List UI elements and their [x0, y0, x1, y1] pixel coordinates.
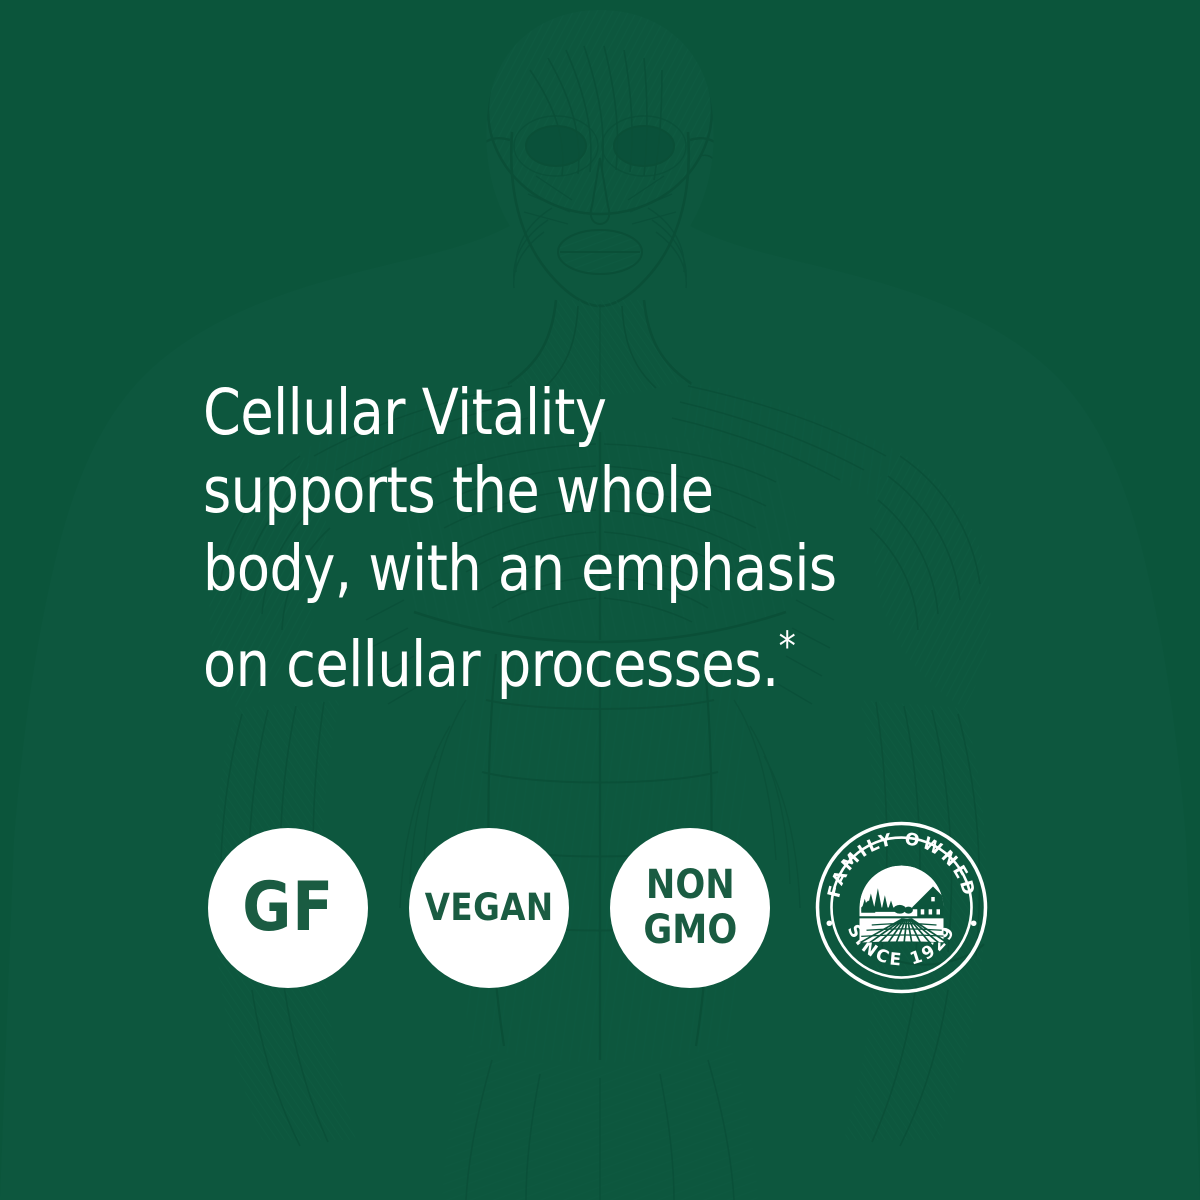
seal-dot-left — [827, 920, 833, 926]
certification-badge-row: GF VEGAN NON GMO — [208, 820, 989, 995]
badge-family-owned-seal[interactable]: FAMILY OWNED SINCE 1929 — [814, 820, 989, 995]
badge-gluten-free[interactable]: GF — [208, 828, 368, 988]
family-owned-seal-graphic: FAMILY OWNED SINCE 1929 — [814, 820, 989, 995]
footnote-asterisk: * — [779, 624, 796, 670]
badge-non-gmo[interactable]: NON GMO — [610, 828, 770, 988]
badge-non-gmo-label: NON GMO — [643, 863, 737, 953]
product-graphic-canvas: Cellular Vitality supports the whole bod… — [0, 0, 1200, 1200]
badge-vegan-label: VEGAN — [425, 889, 554, 926]
badge-vegan[interactable]: VEGAN — [409, 828, 569, 988]
seal-dot-right — [971, 920, 977, 926]
headline-copy: Cellular Vitality supports the whole bod… — [203, 376, 837, 701]
badge-gluten-free-label: GF — [242, 874, 334, 942]
headline-text: Cellular Vitality supports the whole bod… — [203, 296, 917, 704]
